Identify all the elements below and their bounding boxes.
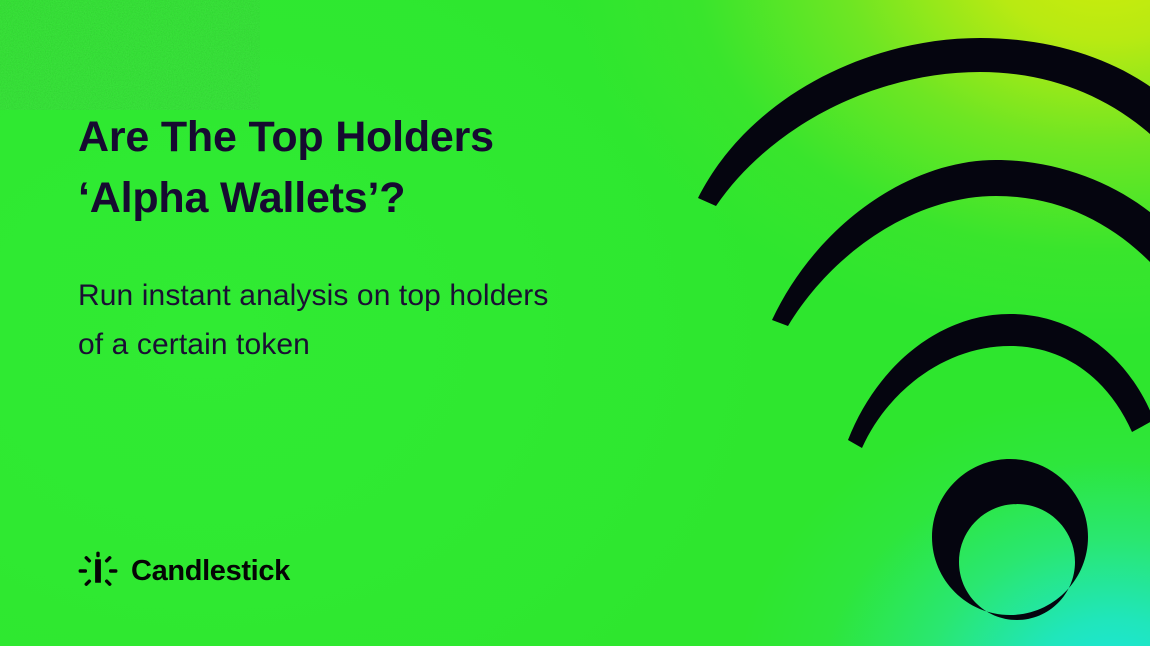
- brand-logo[interactable]: Candlestick: [78, 551, 290, 591]
- candlestick-sparkle-icon: [78, 551, 118, 591]
- promo-banner: Are The Top Holders ‘Alpha Wallets’? Run…: [0, 0, 1150, 646]
- page-title: Are The Top Holders ‘Alpha Wallets’?: [78, 107, 494, 230]
- brand-wordmark: Candlestick: [131, 557, 290, 586]
- text-content: Are The Top Holders ‘Alpha Wallets’? Run…: [78, 0, 698, 646]
- page-subtitle: Run instant analysis on top holders of a…: [78, 272, 548, 369]
